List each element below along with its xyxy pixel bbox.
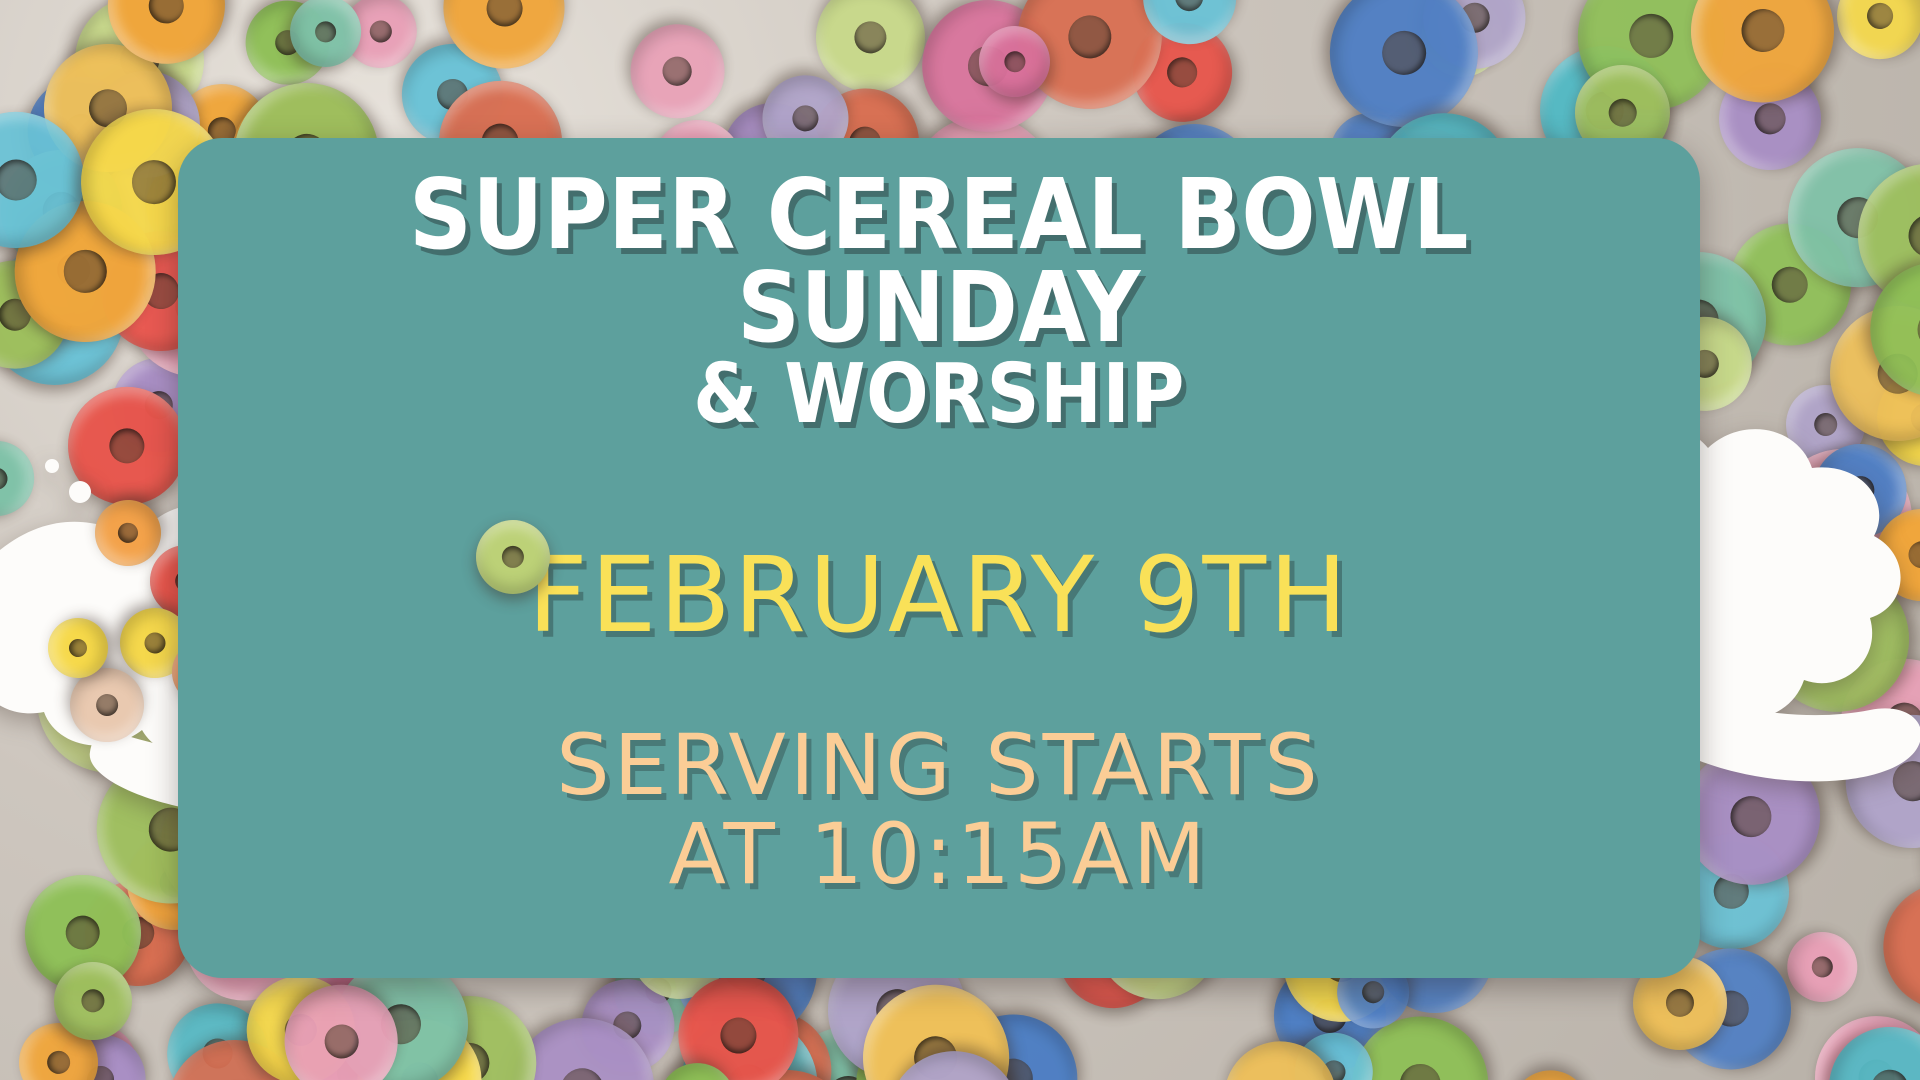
headline: Super Cereal Bowl Sunday & Worship <box>269 168 1609 435</box>
serving-line-2: at 10:15am <box>556 810 1322 899</box>
serving-line-1: Serving Starts <box>556 716 1322 814</box>
serving-info: Serving Starts at 10:15am <box>556 721 1322 899</box>
headline-line-1: Super Cereal Bowl Sunday <box>269 168 1609 354</box>
floating-cereal-loop-green <box>476 520 550 594</box>
poster-canvas: Super Cereal Bowl Sunday & Worship Febru… <box>0 0 1920 1080</box>
content-card: Super Cereal Bowl Sunday & Worship Febru… <box>178 138 1700 978</box>
event-date: February 9th <box>528 543 1351 647</box>
headline-line-2: & Worship <box>269 356 1609 435</box>
